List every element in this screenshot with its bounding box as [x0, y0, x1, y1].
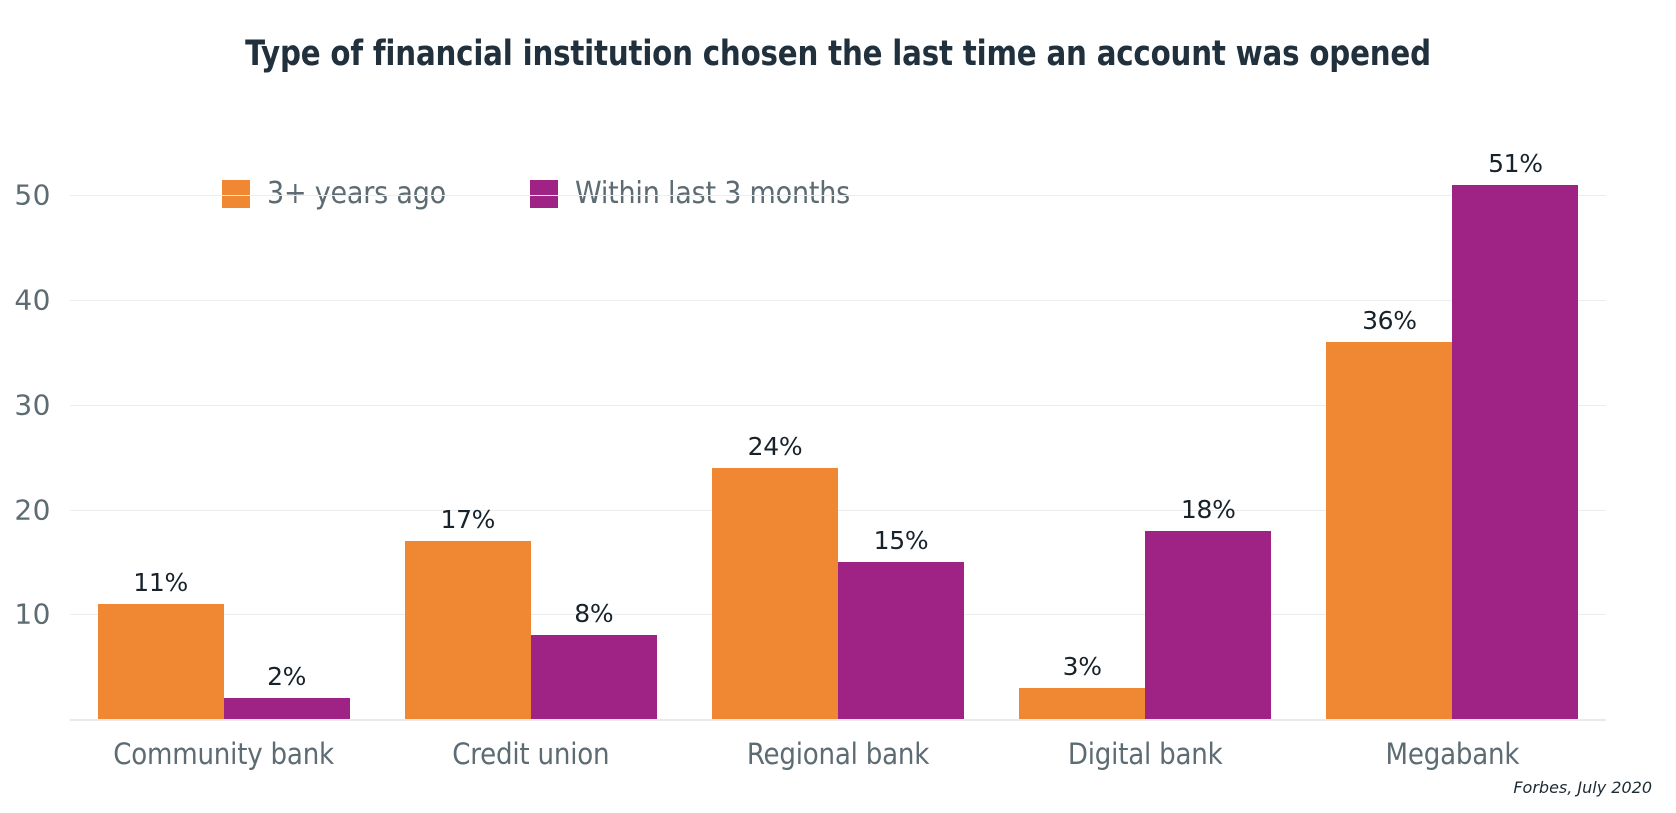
chart-title: Type of financial institution chosen the… [59, 34, 1618, 74]
bar-slot: 11% [98, 143, 224, 719]
x-axis-category-label: Megabank [1299, 737, 1606, 771]
bar-slot: 3% [1019, 143, 1145, 719]
bar[interactable] [98, 604, 224, 719]
bar-value-label: 2% [267, 662, 306, 691]
bar-slot: 36% [1326, 143, 1452, 719]
bar-value-label: 8% [574, 599, 613, 628]
bar[interactable] [1452, 185, 1578, 719]
bar-group: 3%18%Digital bank [992, 143, 1299, 719]
bar-value-label: 24% [748, 432, 803, 461]
bar-groups: 11%2%Community bank17%8%Credit union24%1… [70, 143, 1606, 719]
bar[interactable] [1145, 531, 1271, 720]
bar[interactable] [405, 541, 531, 719]
bar-slot: 2% [224, 143, 350, 719]
y-axis-tick-30: 30 [14, 388, 51, 421]
bar-slot: 17% [405, 143, 531, 719]
bar[interactable] [224, 698, 350, 719]
x-axis-category-label: Community bank [70, 737, 377, 771]
bar-group: 24%15%Regional bank [684, 143, 991, 719]
bar-value-label: 15% [874, 526, 929, 555]
bar-slot: 24% [712, 143, 838, 719]
y-axis-tick-40: 40 [14, 284, 51, 317]
x-axis-category-label: Credit union [377, 737, 684, 771]
bar-chart: Type of financial institution chosen the… [0, 0, 1676, 813]
bar-slot: 18% [1145, 143, 1271, 719]
bar-slot: 8% [531, 143, 657, 719]
bar-value-label: 18% [1181, 495, 1236, 524]
bar-value-label: 11% [133, 568, 188, 597]
y-axis-tick-10: 10 [14, 598, 51, 631]
bar-group: 11%2%Community bank [70, 143, 377, 719]
y-axis-tick-50: 50 [14, 179, 51, 212]
bar-slot: 51% [1452, 143, 1578, 719]
bar-slot: 15% [838, 143, 964, 719]
y-axis-tick-20: 20 [14, 493, 51, 526]
x-axis-category-label: Regional bank [684, 737, 991, 771]
bar[interactable] [531, 635, 657, 719]
bar[interactable] [712, 468, 838, 719]
bar-value-label: 51% [1488, 149, 1543, 178]
x-axis-baseline [70, 719, 1606, 721]
bar[interactable] [838, 562, 964, 719]
bar[interactable] [1019, 688, 1145, 719]
bar-value-label: 17% [440, 505, 495, 534]
bar-value-label: 36% [1362, 306, 1417, 335]
bar-value-label: 3% [1063, 652, 1102, 681]
bar-group: 36%51%Megabank [1299, 143, 1606, 719]
source-note: Forbes, July 2020 [1513, 778, 1652, 797]
x-axis-category-label: Digital bank [992, 737, 1299, 771]
bar[interactable] [1326, 342, 1452, 719]
bar-group: 17%8%Credit union [377, 143, 684, 719]
plot-area: 1020304050 11%2%Community bank17%8%Credi… [70, 143, 1606, 719]
